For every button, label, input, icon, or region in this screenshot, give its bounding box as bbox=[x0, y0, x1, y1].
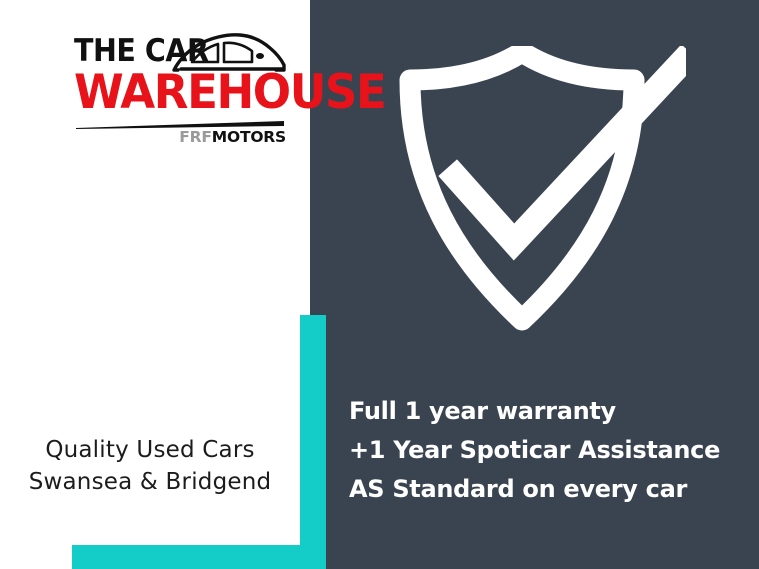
logo-sub-frf: FRF bbox=[179, 128, 212, 146]
logo-line-warehouse: WAREHOUSE bbox=[74, 69, 385, 116]
tagline-line-2: Swansea & Bridgend bbox=[0, 466, 300, 498]
warranty-line-1: Full 1 year warranty bbox=[349, 392, 720, 431]
accent-bar-horizontal bbox=[72, 545, 326, 569]
warranty-copy: Full 1 year warranty +1 Year Spoticar As… bbox=[349, 392, 720, 509]
promo-banner: THE CAR WAREHOUSE FRFMOTORS Quality Used… bbox=[0, 0, 759, 569]
shield-check-icon bbox=[396, 46, 686, 332]
logo-sub-frf-motors: FRFMOTORS bbox=[179, 130, 286, 146]
warranty-line-2: +1 Year Spoticar Assistance bbox=[349, 431, 720, 470]
warranty-line-3: AS Standard on every car bbox=[349, 470, 720, 509]
brand-logo: THE CAR WAREHOUSE FRFMOTORS bbox=[74, 36, 286, 152]
accent-bar-vertical bbox=[300, 315, 326, 569]
tagline-line-1: Quality Used Cars bbox=[0, 434, 300, 466]
tagline: Quality Used Cars Swansea & Bridgend bbox=[0, 434, 300, 498]
logo-sub-motors: MOTORS bbox=[212, 128, 286, 146]
